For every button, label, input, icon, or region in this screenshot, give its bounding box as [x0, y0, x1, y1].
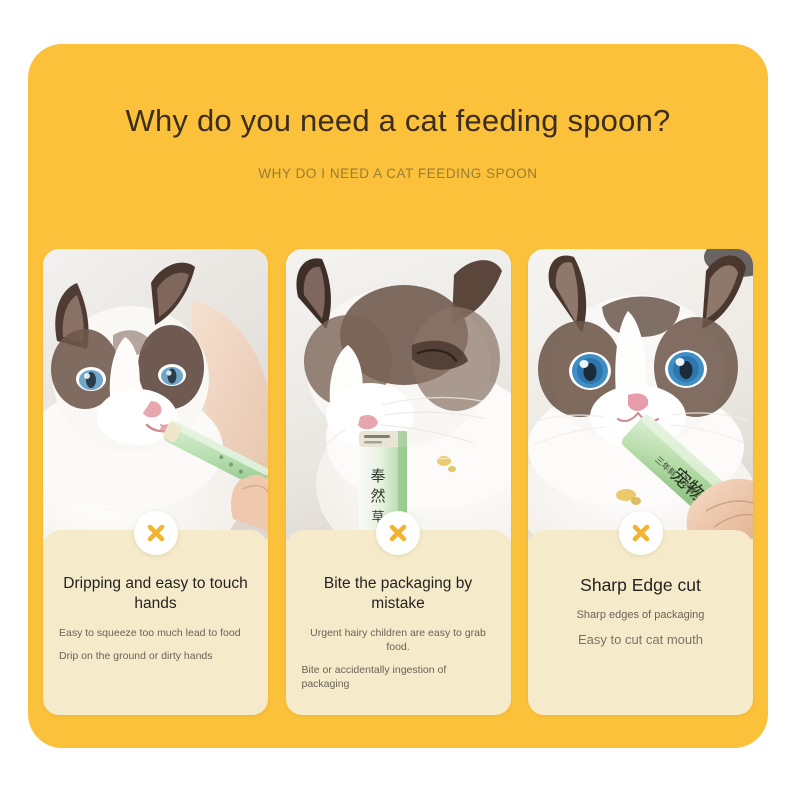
- page-title: Why do you need a cat feeding spoon?: [28, 102, 768, 140]
- page-subtitle: WHY DO I NEED A CAT FEEDING SPOON: [28, 165, 768, 183]
- card-dripping[interactable]: Dripping and easy to touch hands Easy to…: [43, 249, 268, 715]
- yellow-panel: Why do you need a cat feeding spoon? WHY…: [28, 44, 768, 748]
- card-photo: 三年鲜・宠物爱食 宠物爱食: [528, 249, 753, 539]
- cards-row: Dripping and easy to touch hands Easy to…: [43, 249, 753, 715]
- card-photo: [43, 249, 268, 539]
- header-block: Why do you need a cat feeding spoon? WHY…: [28, 102, 768, 183]
- card-title: Sharp Edge cut: [540, 574, 741, 596]
- card-title: Bite the packaging by mistake: [298, 574, 499, 614]
- product-infographic-page: Why do you need a cat feeding spoon? WHY…: [0, 0, 795, 795]
- card-detail-line: Bite or accidentally ingestion of packag…: [298, 663, 499, 691]
- card-text-panel: Bite the packaging by mistake Urgent hai…: [286, 530, 511, 715]
- x-cross-icon: [134, 511, 178, 555]
- card-detail-line: Drip on the ground or dirty hands: [55, 649, 256, 663]
- card-sharp-edge[interactable]: 三年鲜・宠物爱食 宠物爱食: [528, 249, 753, 715]
- card-text-panel: Dripping and easy to touch hands Easy to…: [43, 530, 268, 715]
- card-text-panel: Sharp Edge cut Sharp edges of packaging …: [528, 530, 753, 715]
- x-cross-icon: [619, 511, 663, 555]
- x-cross-icon: [376, 511, 420, 555]
- card-detail-line: Sharp edges of packaging: [540, 608, 741, 622]
- card-bite-packaging[interactable]: 奉 然 草: [286, 249, 511, 715]
- card-detail-line: Easy to squeeze too much lead to food: [55, 626, 256, 640]
- card-photo: 奉 然 草: [286, 249, 511, 539]
- svg-text:然: 然: [370, 487, 385, 505]
- card-detail-line: Urgent hairy children are easy to grab f…: [298, 626, 499, 654]
- card-detail-line: Easy to cut cat mouth: [540, 631, 741, 648]
- svg-text:奉: 奉: [370, 467, 385, 485]
- card-title: Dripping and easy to touch hands: [55, 574, 256, 614]
